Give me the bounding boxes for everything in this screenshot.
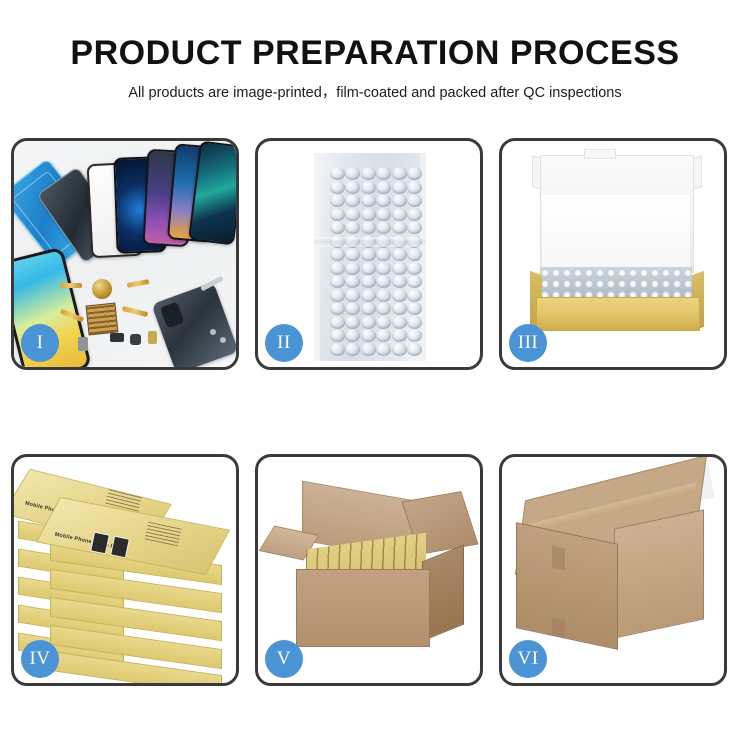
step-badge-2: II: [265, 324, 303, 362]
bubble: [330, 194, 345, 207]
screw-icon: [210, 329, 216, 335]
bubble: [392, 181, 407, 194]
bubble-wrap-sheet: [314, 153, 426, 361]
bubble: [361, 262, 376, 275]
bubble: [345, 329, 360, 342]
step-badge-6: VI: [509, 640, 547, 678]
process-step-panel-5[interactable]: V: [255, 454, 483, 686]
bubble: [345, 262, 360, 275]
bubble: [345, 275, 360, 288]
bubble: [392, 302, 407, 315]
bubble: [392, 208, 407, 221]
bubble: [345, 181, 360, 194]
bubble: [407, 221, 422, 234]
bubble: [345, 167, 360, 180]
process-step-panel-6[interactable]: VI: [499, 454, 727, 686]
bubble: [376, 167, 391, 180]
small-component-icon: [78, 337, 88, 351]
bubble-grid: [330, 167, 422, 349]
bubble: [361, 181, 376, 194]
bubble: [407, 289, 422, 302]
bubble: [361, 289, 376, 302]
sealed-carton-front-face: [516, 522, 618, 650]
bubble: [407, 167, 422, 180]
bubble: [330, 221, 345, 234]
mailer-front-wall: [536, 297, 700, 331]
bubble: [392, 248, 407, 261]
bubble: [392, 289, 407, 302]
step-badge-5: V: [265, 640, 303, 678]
wrap-fold-line: [314, 237, 426, 247]
bubble: [392, 275, 407, 288]
bubble: [361, 221, 376, 234]
bubble: [407, 329, 422, 342]
bubble: [345, 343, 360, 356]
small-component-icon: [148, 331, 157, 344]
process-step-panel-4[interactable]: Mobile Phone Spare Parts Mobile Phone Sp…: [11, 454, 239, 686]
bubble: [376, 302, 391, 315]
bubble: [330, 208, 345, 221]
bubble: [361, 248, 376, 261]
page-header: PRODUCT PREPARATION PROCESS All products…: [0, 0, 750, 102]
bubble: [330, 329, 345, 342]
bubble: [376, 181, 391, 194]
step-badge-3: III: [509, 324, 547, 362]
process-step-panel-2[interactable]: II: [255, 138, 483, 370]
bubble: [330, 289, 345, 302]
carton-seam-upper: [552, 546, 565, 571]
bubble: [407, 275, 422, 288]
bubble: [376, 343, 391, 356]
bubble: [330, 316, 345, 329]
bubble: [392, 221, 407, 234]
bubble-wrapped-contents: [540, 267, 692, 301]
page-title: PRODUCT PREPARATION PROCESS: [0, 34, 750, 73]
bubble: [407, 302, 422, 315]
bubble: [345, 221, 360, 234]
bubble: [392, 343, 407, 356]
bubble: [361, 343, 376, 356]
bubble: [376, 194, 391, 207]
small-component-icon: [130, 334, 141, 345]
bubble: [392, 329, 407, 342]
bubble: [345, 289, 360, 302]
bubble: [392, 194, 407, 207]
bubble: [330, 302, 345, 315]
screw-icon: [220, 337, 226, 343]
bubble: [345, 302, 360, 315]
sealed-carton-right-face: [614, 509, 704, 638]
step-badge-1: I: [21, 324, 59, 362]
mailer-inner-surface: [542, 195, 690, 271]
mailer-lid-tab: [584, 149, 616, 159]
bubble: [376, 316, 391, 329]
bubble: [407, 262, 422, 275]
bubble: [330, 248, 345, 261]
bubble: [392, 167, 407, 180]
bubble: [330, 181, 345, 194]
carton-front-panel: [296, 569, 430, 647]
small-component-icon: [110, 333, 124, 342]
bubble: [345, 316, 360, 329]
bubble: [345, 248, 360, 261]
bubble: [376, 262, 391, 275]
bubble: [361, 316, 376, 329]
bubble: [376, 329, 391, 342]
bubble: [407, 208, 422, 221]
carton-seam-lower: [552, 618, 565, 639]
bubble: [361, 302, 376, 315]
bubble: [361, 208, 376, 221]
bubble: [407, 343, 422, 356]
bubble: [345, 208, 360, 221]
bubble: [376, 275, 391, 288]
process-step-panel-3[interactable]: III: [499, 138, 727, 370]
bubble: [376, 208, 391, 221]
bubble: [330, 343, 345, 356]
bubble: [376, 248, 391, 261]
bubble: [376, 221, 391, 234]
bubble: [330, 275, 345, 288]
bubble: [392, 316, 407, 329]
vibration-motor-icon: [92, 279, 112, 299]
ic-chip-icon: [86, 303, 119, 336]
bubble: [361, 194, 376, 207]
bubble: [361, 329, 376, 342]
bubble: [330, 262, 345, 275]
page-subtitle: All products are image-printed，film-coat…: [0, 85, 750, 102]
bubble: [376, 289, 391, 302]
process-steps-grid: I II III: [11, 138, 739, 686]
bubble: [407, 316, 422, 329]
process-step-panel-1[interactable]: I: [11, 138, 239, 370]
bubble: [407, 181, 422, 194]
flex-cable-icon: [60, 283, 82, 288]
bubble: [330, 167, 345, 180]
bubble: [407, 194, 422, 207]
bubble: [345, 194, 360, 207]
bubble: [407, 248, 422, 261]
bubble: [392, 262, 407, 275]
step-badge-4: IV: [21, 640, 59, 678]
bubble: [361, 167, 376, 180]
bubble: [361, 275, 376, 288]
